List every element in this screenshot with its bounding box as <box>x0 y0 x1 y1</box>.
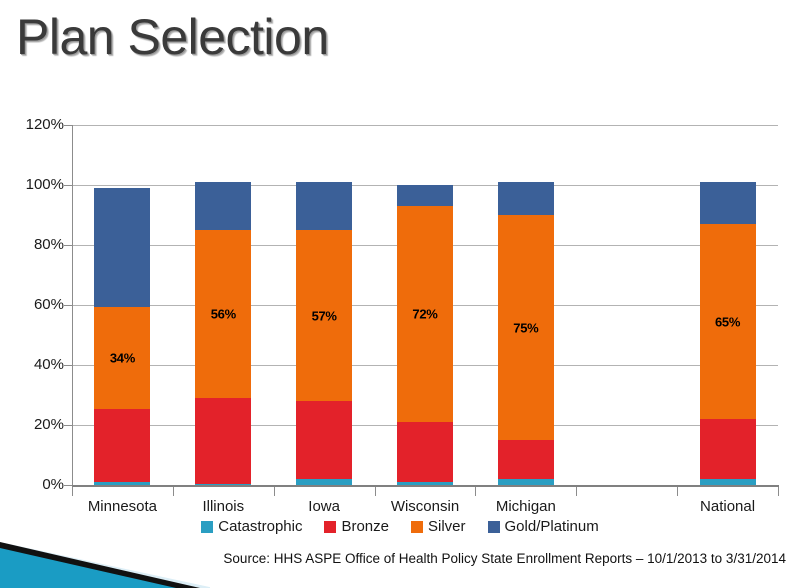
bar-segment-gold-platinum[interactable] <box>397 185 453 206</box>
bar-segment-silver[interactable]: 57% <box>296 230 352 401</box>
bar-segment-bronze[interactable] <box>498 440 554 479</box>
x-axis-tick <box>173 487 174 496</box>
stacked-bar[interactable]: 56% <box>195 182 251 485</box>
legend-label: Silver <box>428 518 466 535</box>
bar-value-label: 72% <box>397 307 453 322</box>
bar-value-label: 75% <box>498 320 554 335</box>
banner-teal-stripe <box>0 548 176 588</box>
x-axis-tick <box>778 487 779 496</box>
banner-black-stripe <box>0 542 200 588</box>
y-axis-tick-label: 60% <box>4 296 64 313</box>
plot-region: 34%56%57%72%75%65% <box>72 125 778 485</box>
x-axis-tick-label: Wisconsin <box>391 498 459 515</box>
x-axis-tick <box>576 487 577 496</box>
bar-segment-silver[interactable]: 65% <box>700 224 756 419</box>
legend-label: Catastrophic <box>218 518 302 535</box>
legend-swatch-icon <box>324 521 336 533</box>
bar-segment-silver[interactable]: 75% <box>498 215 554 440</box>
bar-segment-gold-platinum[interactable] <box>195 182 251 230</box>
x-axis-tick-label: Iowa <box>308 498 340 515</box>
x-axis-line <box>72 485 779 487</box>
legend-item-catastrophic[interactable]: Catastrophic <box>201 518 302 535</box>
bar-segment-gold-platinum[interactable] <box>94 188 150 307</box>
banner-pale-stripe <box>0 542 210 588</box>
bar-group[interactable]: 65% <box>677 125 778 485</box>
x-axis-tick-label: Michigan <box>496 498 556 515</box>
bar-segment-bronze[interactable] <box>94 409 150 483</box>
decorative-corner-banner <box>0 542 210 588</box>
legend-swatch-icon <box>411 521 423 533</box>
legend-label: Bronze <box>341 518 389 535</box>
bar-group[interactable]: 72% <box>375 125 476 485</box>
bar-value-label: 57% <box>296 308 352 323</box>
bar-group[interactable]: 75% <box>475 125 576 485</box>
bar-value-label: 56% <box>195 307 251 322</box>
bar-group[interactable]: 56% <box>173 125 274 485</box>
page-title: Plan Selection <box>16 12 329 62</box>
bar-segment-gold-platinum[interactable] <box>498 182 554 215</box>
y-axis-tick-label: 120% <box>4 116 64 133</box>
bar-group[interactable]: 57% <box>274 125 375 485</box>
y-axis-tick-label: 20% <box>4 416 64 433</box>
legend-swatch-icon <box>488 521 500 533</box>
legend-item-silver[interactable]: Silver <box>411 518 466 535</box>
bar-segment-silver[interactable]: 34% <box>94 307 150 409</box>
y-axis-tick-label: 100% <box>4 176 64 193</box>
x-axis-tick-label: Illinois <box>202 498 244 515</box>
legend-item-gold-platinum[interactable]: Gold/Platinum <box>488 518 599 535</box>
bar-group[interactable]: 34% <box>72 125 173 485</box>
stacked-bar[interactable]: 34% <box>94 188 150 485</box>
bar-segment-silver[interactable]: 56% <box>195 230 251 398</box>
legend-swatch-icon <box>201 521 213 533</box>
bar-segment-gold-platinum[interactable] <box>296 182 352 230</box>
stacked-bar[interactable]: 57% <box>296 182 352 485</box>
legend-label: Gold/Platinum <box>505 518 599 535</box>
x-axis-tick-label: Minnesota <box>88 498 157 515</box>
source-note: Source: HHS ASPE Office of Health Policy… <box>223 551 786 566</box>
stacked-bar[interactable]: 65% <box>700 182 756 485</box>
legend-item-bronze[interactable]: Bronze <box>324 518 389 535</box>
bar-segment-bronze[interactable] <box>195 398 251 484</box>
bar-segment-bronze[interactable] <box>700 419 756 479</box>
x-axis-tick <box>375 487 376 496</box>
bar-segment-bronze[interactable] <box>397 422 453 482</box>
bar-value-label: 34% <box>94 350 150 365</box>
bar-segment-gold-platinum[interactable] <box>700 182 756 224</box>
y-axis-tick-label: 40% <box>4 356 64 373</box>
y-axis-tick-label: 0% <box>4 476 64 493</box>
x-axis-tick <box>677 487 678 496</box>
stacked-bar[interactable]: 75% <box>498 182 554 485</box>
bar-value-label: 65% <box>700 314 756 329</box>
x-axis-tick <box>274 487 275 496</box>
stacked-bar[interactable]: 72% <box>397 185 453 485</box>
x-axis-tick <box>475 487 476 496</box>
x-axis-tick <box>72 487 73 496</box>
chart-legend: CatastrophicBronzeSilverGold/Platinum <box>0 518 800 535</box>
chart-container: 0%20%40%60%80%100%120% 34%56%57%72%75%65… <box>0 108 800 508</box>
x-axis-tick-label: National <box>700 498 755 515</box>
bar-segment-silver[interactable]: 72% <box>397 206 453 422</box>
bar-group[interactable] <box>576 125 677 485</box>
bar-segment-bronze[interactable] <box>296 401 352 479</box>
y-axis-tick-label: 80% <box>4 236 64 253</box>
